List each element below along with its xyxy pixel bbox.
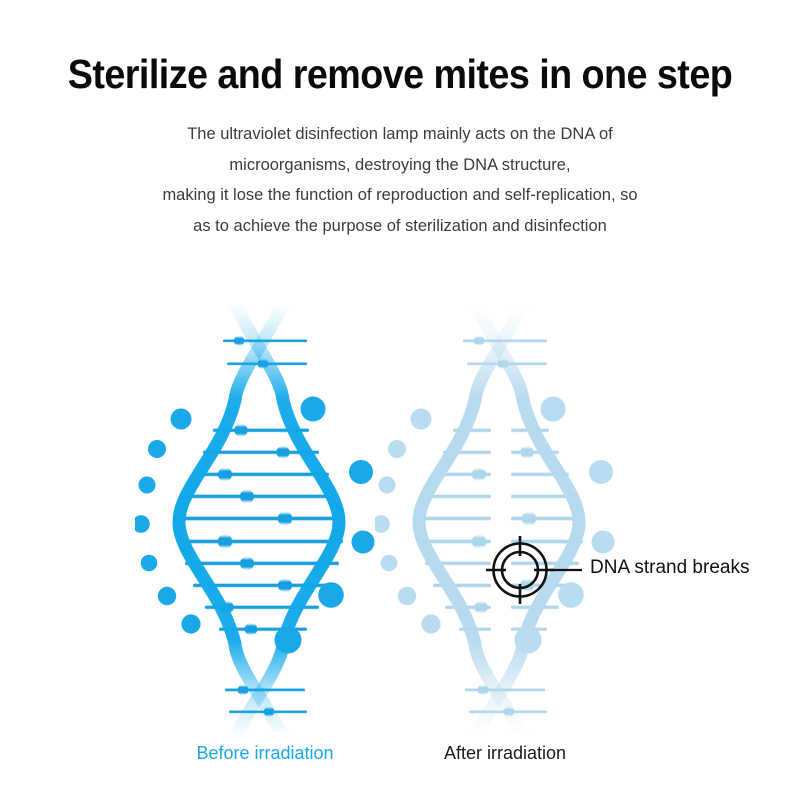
- poster-canvas: Sterilize and remove mites in one step T…: [0, 0, 800, 800]
- broken-rungs: [421, 336, 583, 717]
- page-subtitle: The ultraviolet disinfection lamp mainly…: [0, 119, 800, 241]
- subtitle-line-1: The ultraviolet disinfection lamp mainly…: [0, 119, 800, 150]
- annotation-label-dna-strand-breaks: DNA strand breaks: [590, 558, 749, 577]
- page-title: Sterilize and remove mites in one step: [32, 54, 768, 95]
- comparison-figure: Before irradiation After irradiation: [0, 300, 800, 800]
- caption-before-irradiation: Before irradiation: [135, 744, 395, 762]
- dna-helix-after: [375, 300, 635, 740]
- dna-helix-intact-icon: [135, 300, 395, 740]
- caption-after-irradiation: After irradiation: [375, 744, 635, 762]
- header: Sterilize and remove mites in one step T…: [0, 0, 800, 241]
- dna-helix-broken-icon: [375, 300, 635, 740]
- subtitle-line-2: microorganisms, destroying the DNA struc…: [0, 150, 800, 181]
- subtitle-line-3: making it lose the function of reproduct…: [0, 180, 800, 211]
- subtitle-line-4: as to achieve the purpose of sterilizati…: [0, 211, 800, 242]
- dna-helix-before: [135, 300, 395, 740]
